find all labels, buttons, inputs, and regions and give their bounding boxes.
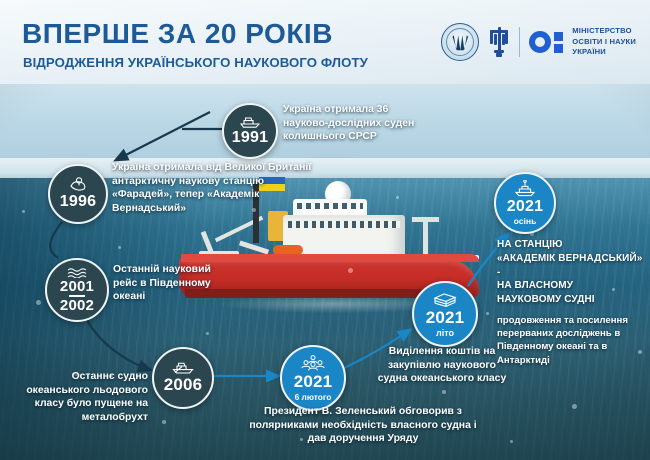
ship-icon [240, 116, 260, 128]
timeline-node-1996[interactable]: 1996 [48, 164, 108, 224]
conclusion-headline: НА СТАНЦІЮ «АКАДЕМІК ВЕРНАДСЬКИЙ» - НА В… [497, 238, 643, 307]
ministry-name-line-1: МІНІСТЕРСТВО [572, 26, 636, 36]
caption-2001-2002: Останній науковий рейс в Південному океа… [113, 263, 233, 304]
caption-2021-february: Президент В. Зеленський обговорив з поля… [248, 405, 478, 446]
antarctic-center-logo-icon [441, 23, 479, 61]
money-stack-icon [433, 291, 457, 307]
conclusion-headline-line-4: НАУКОВОМУ СУДНІ [497, 293, 643, 307]
ministry-logo-icon [529, 31, 563, 53]
node-year-top: 2001 [60, 279, 94, 294]
ministry-name-line-3: УКРАЇНИ [572, 47, 636, 57]
node-subtitle: літо [436, 328, 454, 338]
ministry-name: МІНІСТЕРСТВО ОСВІТИ І НАУКИ УКРАЇНИ [572, 26, 636, 57]
conclusion-headline-line-3: НА ВЛАСНОМУ [497, 279, 643, 293]
node-year: 2021 [294, 372, 333, 392]
research-vessel-icon [514, 180, 536, 197]
page-subtitle: ВІДРОДЖЕННЯ УКРАЇНСЬКОГО НАУКОВОГО ФЛОТУ [23, 56, 368, 69]
conclusion-body: продовження та посилення перерваних досл… [497, 314, 643, 367]
node-year-bottom: 2002 [60, 298, 94, 313]
timeline-node-2021-summer[interactable]: 2021 літо [412, 281, 478, 347]
page-title: ВПЕРШЕ ЗА 20 РОКІВ [22, 20, 333, 48]
people-group-icon [300, 355, 326, 371]
caption-1996: Україна отримала від Великої Британії ан… [112, 161, 312, 216]
logo-divider [519, 27, 520, 57]
logo-group: МІНІСТЕРСТВО ОСВІТИ І НАУКИ УКРАЇНИ [441, 20, 636, 64]
timeline-node-2001-2002[interactable]: 2001 2002 [45, 258, 109, 322]
node-subtitle: 6 лютого [295, 392, 332, 402]
caption-2021-summer: Виділення коштів на закупівлю наукового … [372, 345, 512, 386]
map-pin-antarctica-icon [68, 177, 88, 192]
trident-emblem-icon [488, 25, 510, 59]
node-year: 1991 [232, 129, 268, 147]
caption-1991: Україна отримала 36 науково-дослідних су… [283, 103, 433, 144]
conclusion-headline-line-2: «АКАДЕМІК ВЕРНАДСЬКИЙ» - [497, 252, 643, 280]
scrapped-ship-icon [172, 361, 194, 374]
conclusion-headline-line-1: НА СТАНЦІЮ [497, 238, 643, 252]
waves-icon [67, 267, 87, 278]
ministry-squares-shape [554, 32, 563, 53]
node-year: 2006 [164, 375, 203, 395]
timeline-node-2021-february[interactable]: 2021 6 лютого [280, 345, 346, 411]
node-year: 2021 [507, 198, 543, 216]
ministry-name-line-2: ОСВІТИ І НАУКИ [572, 37, 636, 47]
infographic-canvas: 1991 1996 2001 2002 [0, 0, 650, 460]
timeline-node-1991[interactable]: 1991 [222, 103, 278, 159]
conclusion-block: НА СТАНЦІЮ «АКАДЕМІК ВЕРНАДСЬКИЙ» - НА В… [497, 238, 643, 367]
caption-2006: Останнє судно океанського льодового клас… [10, 370, 148, 425]
timeline-node-2006[interactable]: 2006 [152, 347, 214, 409]
node-year: 1996 [60, 193, 96, 211]
node-subtitle: осінь [514, 216, 537, 226]
ministry-ring-shape [529, 31, 551, 53]
header-bar: ВПЕРШЕ ЗА 20 РОКІВ ВІДРОДЖЕННЯ УКРАЇНСЬК… [0, 0, 650, 84]
timeline-node-2021-autumn[interactable]: 2021 осінь [494, 172, 556, 234]
node-year: 2021 [426, 308, 465, 328]
